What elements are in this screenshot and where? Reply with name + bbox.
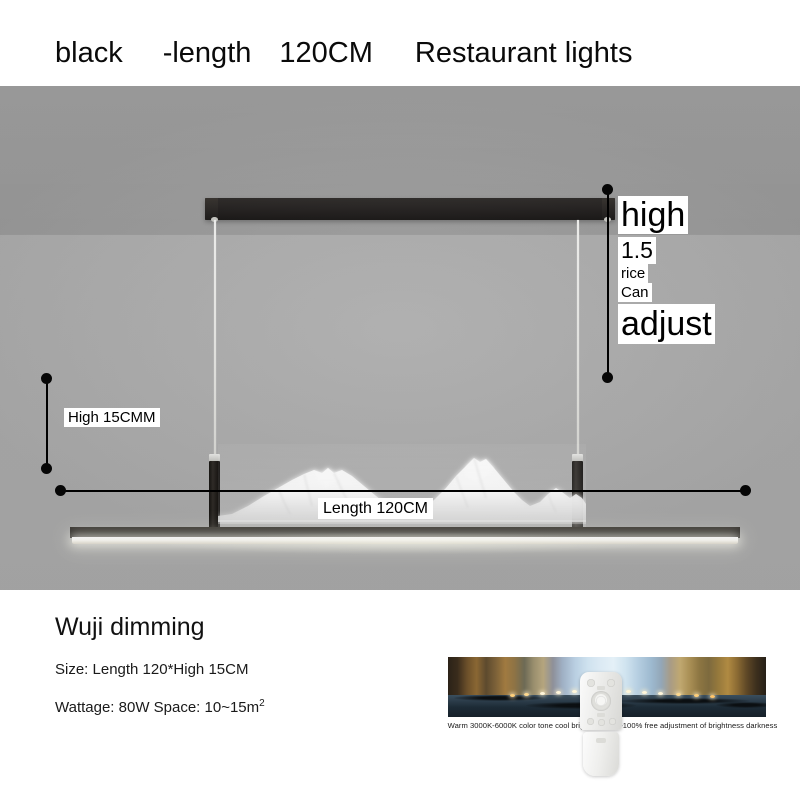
inset-light-point <box>694 694 699 697</box>
callout-value: 1.5 <box>618 237 656 264</box>
remote-button-mode <box>607 679 615 687</box>
header-word-length: -length <box>163 39 252 68</box>
hang-dim-dot-bottom <box>602 372 613 383</box>
callout-rice: rice <box>618 264 648 283</box>
spec-wattage-text: Wattage: 80W Space: 10~15m <box>55 699 259 716</box>
hang-dim-dot-top <box>602 184 613 195</box>
height-dim-dot-bottom <box>41 463 52 474</box>
height-dim-dot-top <box>41 373 52 384</box>
remote-button-power <box>587 679 595 687</box>
hang-height-callout-stack: high 1.5 rice Can adjust <box>618 196 738 344</box>
hang-height-dimension-line <box>607 190 609 378</box>
remote-button-extra <box>596 738 606 743</box>
inset-light-point <box>572 690 577 693</box>
callout-high: high <box>618 196 688 234</box>
spec-text-block: Wuji dimming Size: Length 120*High 15CM … <box>55 615 415 737</box>
remote-button-up <box>597 686 605 690</box>
callout-can: Can <box>618 283 652 302</box>
spec-wattage: Wattage: 80W Space: 10~15m2 <box>55 699 415 715</box>
remote-button-warm <box>587 718 594 725</box>
inset-light-point <box>710 695 715 698</box>
inset-light-point <box>556 691 561 694</box>
height-dimension-line <box>46 379 48 469</box>
spec-size: Size: Length 120*High 15CM <box>55 662 415 677</box>
header-title-row: black -length 120CM Restaurant lights <box>55 20 633 86</box>
inset-light-point <box>676 693 681 696</box>
callout-adjust: adjust <box>618 304 715 344</box>
inset-light-point <box>540 692 545 695</box>
length-dim-dot-right <box>740 485 751 496</box>
header-word-color: black <box>55 39 123 68</box>
remote-upper-body <box>580 672 622 730</box>
suspension-cable-right <box>577 220 579 460</box>
height-callout-label: High 15CMM <box>64 408 160 427</box>
spec-title: Wuji dimming <box>55 615 415 640</box>
inset-light-point <box>642 691 647 694</box>
remote-button-cool <box>609 718 616 725</box>
header-word-size: 120CM <box>279 39 373 68</box>
remote-lower-body <box>583 732 619 776</box>
ceiling-canopy-bar <box>205 198 615 220</box>
bar-light-strip <box>72 537 738 544</box>
header-word-category: Restaurant lights <box>415 39 633 68</box>
inset-light-point <box>524 693 529 696</box>
inset-light-point <box>510 694 515 697</box>
spec-wattage-superscript: 2 <box>259 698 265 709</box>
length-callout-label: Length 120CM <box>318 498 433 519</box>
inset-light-point <box>658 692 663 695</box>
led-linear-bar <box>70 527 740 544</box>
led-remote-control <box>580 672 622 776</box>
length-dimension-line <box>60 490 746 492</box>
inset-horizon-left <box>454 695 544 701</box>
remote-button-down <box>597 713 605 717</box>
length-dim-dot-left <box>55 485 66 496</box>
inset-light-point <box>626 690 631 693</box>
product-detail-page: black -length 120CM Restaurant lights <box>0 0 800 800</box>
remote-dpad-center-button <box>596 696 606 706</box>
header-bar: black -length 120CM Restaurant lights <box>0 20 800 86</box>
suspension-cable-left <box>214 220 216 460</box>
remote-button-neutral <box>598 719 605 726</box>
